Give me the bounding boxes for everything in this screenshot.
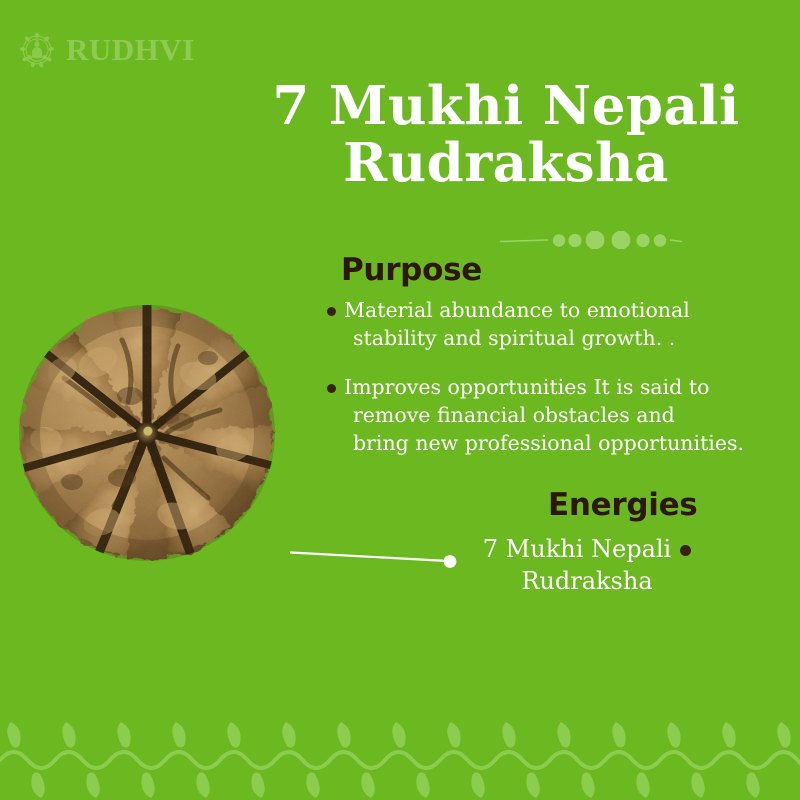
rudraksha-bead-image [2, 300, 292, 572]
list-item: Improves opportunities It is said to rem… [322, 373, 792, 458]
bullet-1-line-1: Material abundance to emotional [344, 298, 690, 322]
energies-heading: Energies [548, 487, 697, 523]
bullet-dot-icon [327, 307, 336, 316]
brand-logo[interactable]: RUDHVI [14, 26, 195, 72]
bullet-dot-icon [327, 384, 336, 393]
energies-label: 7 Mukhi Nepali Rudraksha [462, 534, 712, 597]
energies-label-line-2: Rudraksha [521, 567, 652, 595]
brand-name: RUDHVI [66, 34, 195, 65]
list-item: Material abundance to emotional stabilit… [322, 296, 792, 353]
title-line-1: 7 Mukhi Nepali [272, 75, 739, 137]
page-title: 7 Mukhi Nepali Rudraksha [230, 78, 782, 192]
leaf-vine-border-icon [0, 720, 800, 800]
bullet-2-line-1: Improves opportunities It is said to [344, 375, 709, 399]
energies-marker-dot-icon [680, 545, 691, 556]
poster-canvas: RUDHVI 7 Mukhi Nepali Rudraksha Purpose … [0, 0, 800, 800]
title-line-2: Rudraksha [230, 135, 782, 192]
bullet-1-line-2: stability and spiritual growth. . [344, 324, 792, 352]
purpose-heading: Purpose [341, 252, 482, 288]
bullet-2-line-2: remove financial obstacles and [344, 401, 792, 429]
bullet-2-line-3: bring new professional opportunities. [344, 429, 792, 457]
pointer-line-icon [290, 548, 458, 570]
rudraksha-emblem-icon [14, 26, 60, 72]
purpose-bullet-list: Material abundance to emotional stabilit… [322, 296, 792, 477]
energies-label-line-1: 7 Mukhi Nepali [483, 535, 671, 563]
dot-ornament-divider-icon [500, 231, 682, 249]
